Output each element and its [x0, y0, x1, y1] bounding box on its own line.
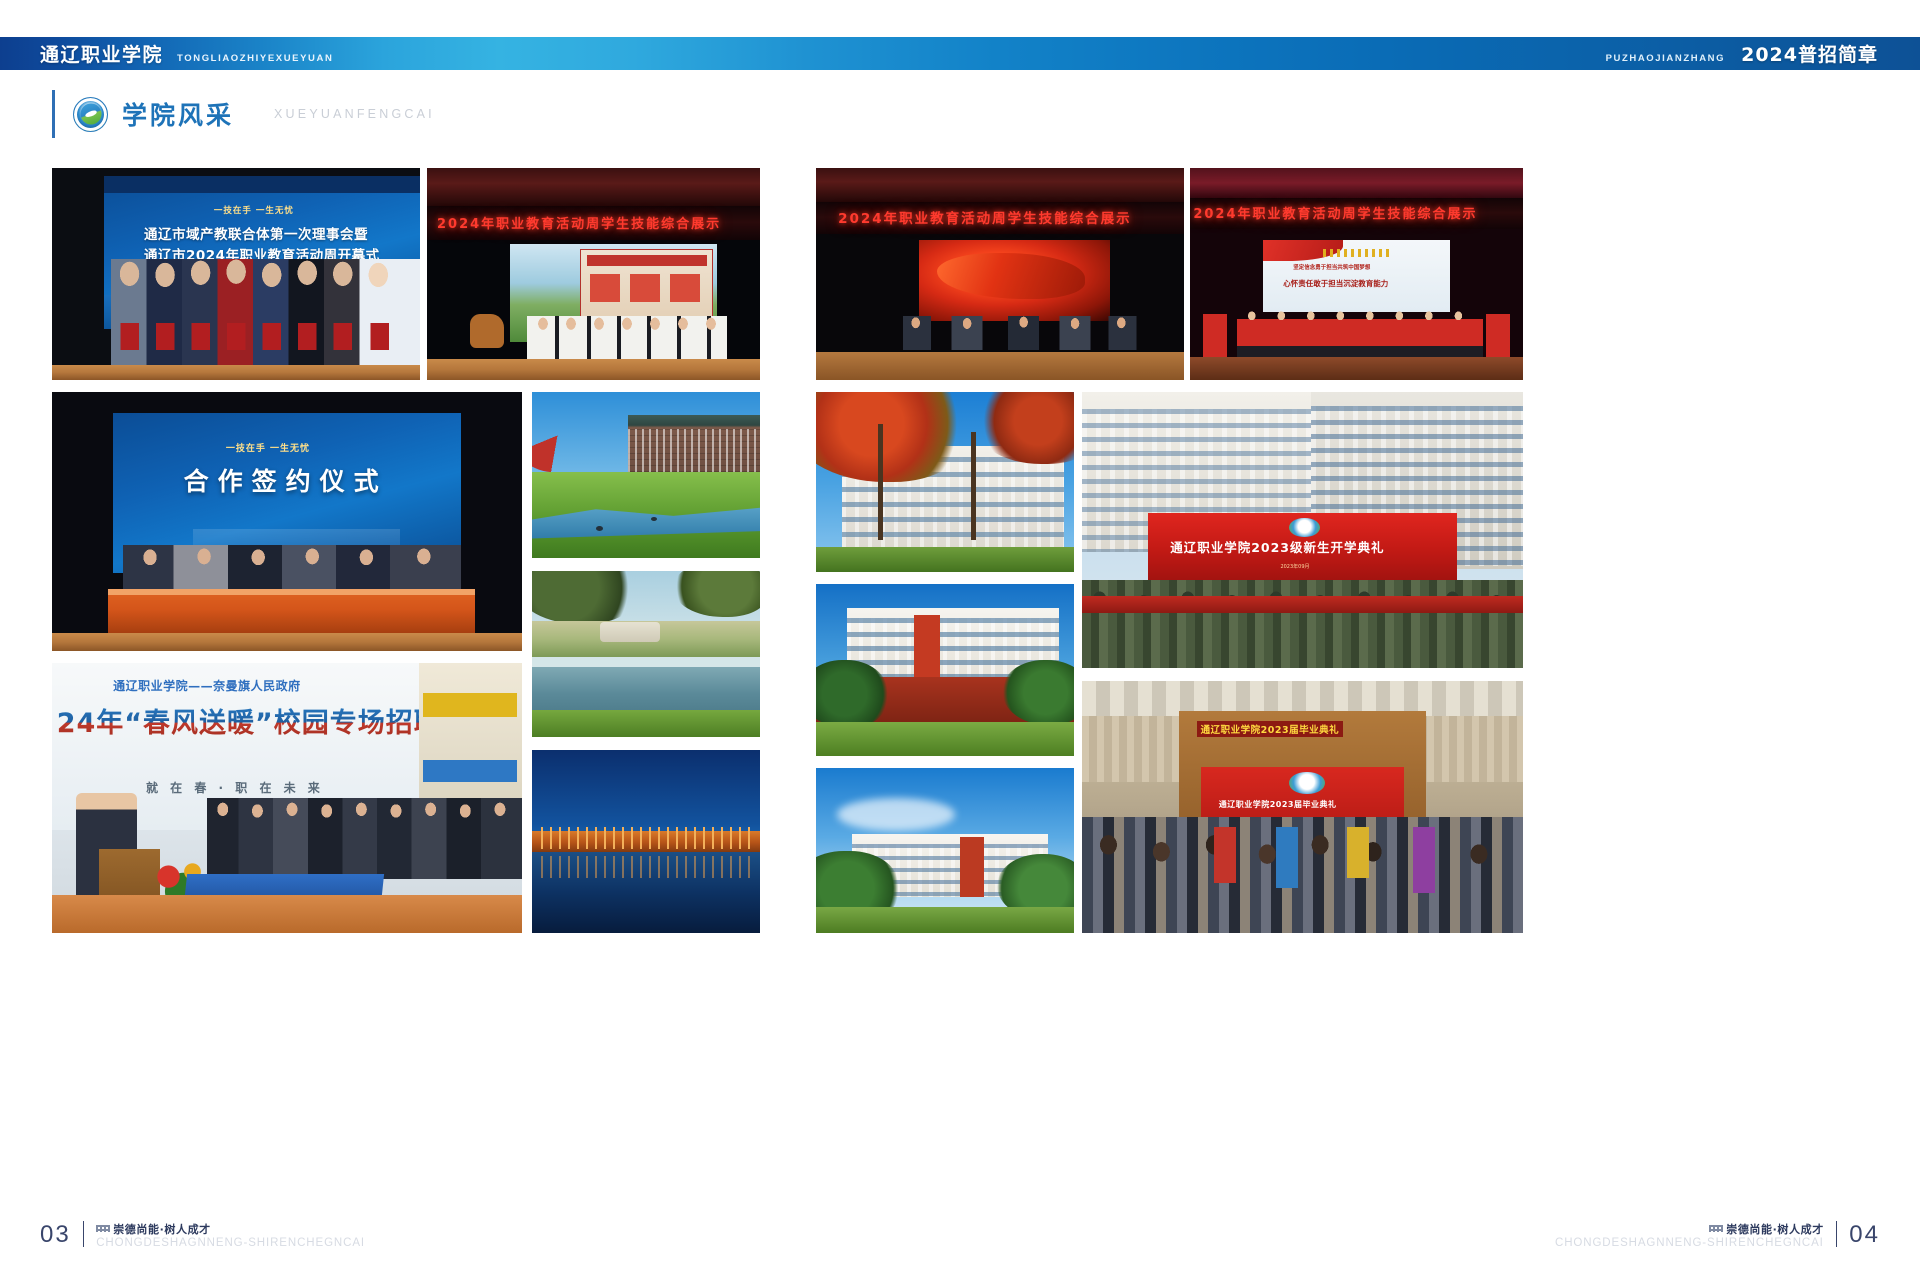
p5-caption-slogan: 一技在手 一生无忧 — [226, 441, 310, 454]
page-number-right: 04 — [1849, 1221, 1880, 1249]
p14-caption-banner-top: 通辽职业学院2023届毕业典礼 — [1197, 721, 1343, 737]
section-title-pinyin: XUEYUANFENGCAI — [274, 107, 435, 121]
page-number-left: 03 — [40, 1221, 71, 1249]
photo-graduation-ceremony-2023: 通辽职业学院2023届毕业典礼 通辽职业学院2023届毕业典礼 2023年6月3… — [1082, 681, 1523, 933]
photo-skills-showcase-firefighting: 2024年职业教育活动周学生技能综合展示 — [816, 168, 1184, 380]
page-header-bar: 通辽职业学院 TONGLIAOZHIYEXUEYUAN PUZHAOJIANZH… — [0, 37, 1920, 70]
p9-caption-title: 24年“春风送暖”校园专场招聘会 — [57, 701, 470, 740]
header-document-title: PUZHAOJIANZHANG 2024普招简章 — [1606, 40, 1920, 67]
p1-caption-line1: 通辽市域产教联合体第一次理事会暨 — [144, 223, 368, 243]
photo-skills-showcase-chorus: 2024年职业教育活动周学生技能综合展示 坚定信念勇于担当共筑中国梦想 心怀责任… — [1190, 168, 1523, 380]
footer-motto-cn-right: 崇德尚能·树人成才 — [1555, 1224, 1824, 1236]
footer-divider-right — [1836, 1221, 1838, 1247]
footer-right: 崇德尚能·树人成才 CHONGDESHAGNNENG-SHIRENCHEGNCA… — [1555, 1221, 1880, 1249]
header-brand-pinyin: TONGLIAOZHIYEXUEYUAN — [177, 53, 333, 64]
p1-caption-slogan: 一技在手 一生无忧 — [214, 204, 294, 216]
p9-caption-sub: 就 在 春 · 职 在 未 来 — [146, 779, 324, 796]
header-brand-cn: 通辽职业学院 — [40, 40, 163, 67]
college-emblem-icon — [73, 97, 108, 132]
p9-caption-org: 通辽职业学院——奈曼旗人民政府 — [113, 677, 301, 694]
section-title-cn: 学院风采 — [122, 96, 234, 132]
photo-skills-showcase-stage-left: 2024年职业教育活动周学生技能综合展示 — [427, 168, 760, 380]
p4-caption-banner: 2024年职业教育活动周学生技能综合展示 — [1193, 203, 1477, 222]
p5-caption-title: 合作签约仪式 — [184, 462, 388, 498]
section-heading: 学院风采 XUEYUANFENGCAI — [52, 88, 435, 140]
header-doc-cn: 2024普招简章 — [1741, 40, 1878, 67]
header-brand: 通辽职业学院 TONGLIAOZHIYEXUEYUAN — [0, 40, 333, 67]
p2-caption-banner: 2024年职业教育活动周学生技能综合展示 — [437, 213, 721, 232]
photo-campus-lawn-and-dormitory — [532, 392, 760, 558]
p14-caption-screen: 通辽职业学院2023届毕业典礼 — [1219, 799, 1337, 810]
dot-pattern-icon — [1709, 1225, 1723, 1232]
photo-industry-education-consortium-opening: 一技在手 一生无忧 通辽市域产教联合体第一次理事会暨 通辽市2024年职业教育活… — [52, 168, 420, 380]
photo-campus-gate-building-blue-sky — [816, 768, 1074, 933]
footer-left: 03 崇德尚能·树人成才 CHONGDESHAGNNENG-SHIRENCHEG… — [40, 1221, 365, 1249]
p3-caption-banner: 2024年职业教育活动周学生技能综合展示 — [838, 207, 1132, 227]
p4-caption-slogan1: 坚定信念勇于担当共筑中国梦想 — [1293, 263, 1370, 271]
footer-motto-cn-left: 崇德尚能·树人成才 — [96, 1224, 365, 1236]
dot-pattern-icon — [96, 1225, 110, 1232]
footer-motto-pinyin-left: CHONGDESHAGNNENG-SHIRENCHEGNCAI — [96, 1237, 365, 1249]
p13-caption-date: 2023年09月 — [1280, 563, 1309, 570]
footer-divider-left — [83, 1221, 85, 1247]
p4-caption-slogan2: 心怀责任敢于担当沉淀教育能力 — [1283, 278, 1388, 289]
photo-campus-lake-autumn — [532, 571, 760, 737]
footer-motto-pinyin-right: CHONGDESHAGNNENG-SHIRENCHEGNCAI — [1555, 1237, 1824, 1249]
photo-campus-waterside-pavilion-night — [532, 750, 760, 933]
photo-cooperation-signing-ceremony: 一技在手 一生无忧 合作签约仪式 — [52, 392, 522, 651]
section-accent-rule — [52, 90, 55, 138]
photo-campus-red-shrub-building — [816, 584, 1074, 756]
header-doc-pinyin: PUZHAOJIANZHANG — [1606, 53, 1726, 64]
photo-campus-autumn-trees-teaching-building — [816, 392, 1074, 572]
photo-spring-breeze-job-fair: 通辽职业学院——奈曼旗人民政府 24年“春风送暖”校园专场招聘会 就 在 春 ·… — [52, 663, 522, 933]
photo-freshman-opening-ceremony-2023: 通辽职业学院2023级新生开学典礼 2023年09月 — [1082, 392, 1523, 668]
p13-caption-banner: 通辽职业学院2023级新生开学典礼 — [1170, 537, 1384, 556]
